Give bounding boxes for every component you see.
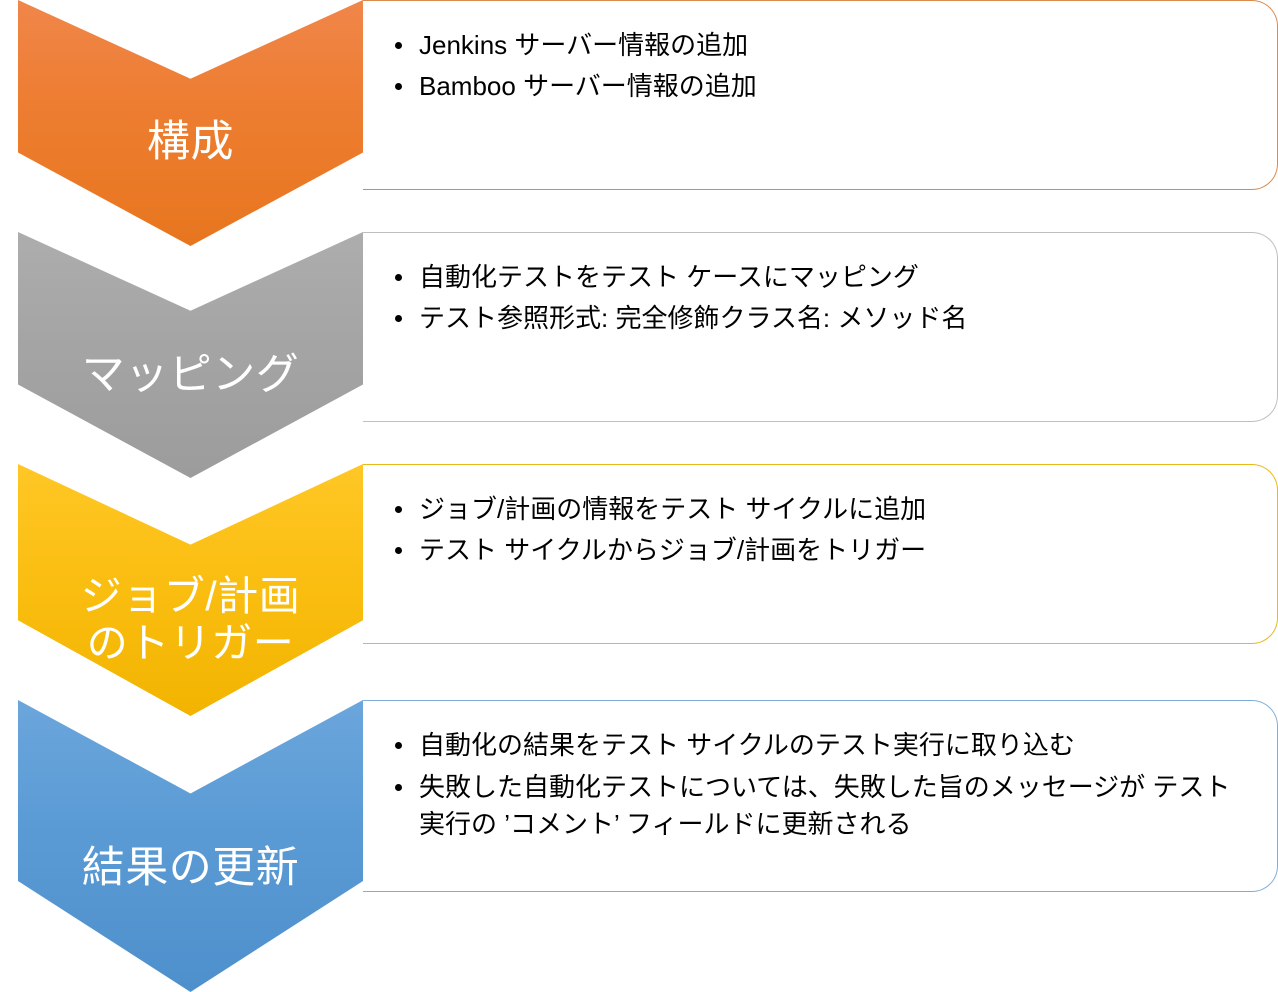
bullet-list-stage-3: ジョブ/計画の情報をテスト サイクルに追加 テスト サイクルからジョブ/計画をト…	[389, 491, 1247, 569]
content-card-stage-2: 自動化テストをテスト ケースにマッピング テスト参照形式: 完全修飾クラス名: …	[363, 232, 1278, 422]
chevron-stage-4[interactable]: 結果の更新	[18, 700, 363, 992]
bullet-list-stage-4: 自動化の結果をテスト サイクルのテスト実行に取り込む 失敗した自動化テストについ…	[389, 727, 1247, 844]
list-item: Jenkins サーバー情報の追加	[389, 27, 1247, 64]
content-card-stage-3: ジョブ/計画の情報をテスト サイクルに追加 テスト サイクルからジョブ/計画をト…	[363, 464, 1278, 644]
content-card-stage-1: Jenkins サーバー情報の追加 Bamboo サーバー情報の追加	[363, 0, 1278, 190]
chevron-stage-2[interactable]: マッピング	[18, 232, 363, 478]
process-stage-2: マッピング 自動化テストをテスト ケースにマッピング テスト参照形式: 完全修飾…	[0, 232, 1278, 478]
process-flow-diagram: 構成 Jenkins サーバー情報の追加 Bamboo サーバー情報の追加 マッ…	[0, 0, 1278, 992]
list-item: 失敗した自動化テストについては、失敗した旨のメッセージが テスト実行の ’コメン…	[389, 769, 1247, 844]
content-card-stage-4: 自動化の結果をテスト サイクルのテスト実行に取り込む 失敗した自動化テストについ…	[363, 700, 1278, 892]
process-stage-3: ジョブ/計画 のトリガー ジョブ/計画の情報をテスト サイクルに追加 テスト サ…	[0, 464, 1278, 716]
process-stage-4: 結果の更新 自動化の結果をテスト サイクルのテスト実行に取り込む 失敗した自動化…	[0, 700, 1278, 992]
chevron-label-stage-4: 結果の更新	[18, 844, 363, 893]
chevron-stage-3[interactable]: ジョブ/計画 のトリガー	[18, 464, 363, 716]
chevron-label-stage-1: 構成	[18, 118, 363, 167]
list-item: 自動化の結果をテスト サイクルのテスト実行に取り込む	[389, 727, 1247, 765]
chevron-stage-1[interactable]: 構成	[18, 0, 363, 246]
bullet-list-stage-2: 自動化テストをテスト ケースにマッピング テスト参照形式: 完全修飾クラス名: …	[389, 259, 1247, 337]
list-item: テスト サイクルからジョブ/計画をトリガー	[389, 532, 1247, 569]
list-item: ジョブ/計画の情報をテスト サイクルに追加	[389, 491, 1247, 528]
chevron-label-stage-3: ジョブ/計画 のトリガー	[18, 573, 363, 667]
process-stage-1: 構成 Jenkins サーバー情報の追加 Bamboo サーバー情報の追加	[0, 0, 1278, 246]
chevron-label-stage-2: マッピング	[18, 351, 363, 400]
list-item: Bamboo サーバー情報の追加	[389, 68, 1247, 105]
bullet-list-stage-1: Jenkins サーバー情報の追加 Bamboo サーバー情報の追加	[389, 27, 1247, 105]
list-item: テスト参照形式: 完全修飾クラス名: メソッド名	[389, 300, 1247, 337]
list-item: 自動化テストをテスト ケースにマッピング	[389, 259, 1247, 296]
